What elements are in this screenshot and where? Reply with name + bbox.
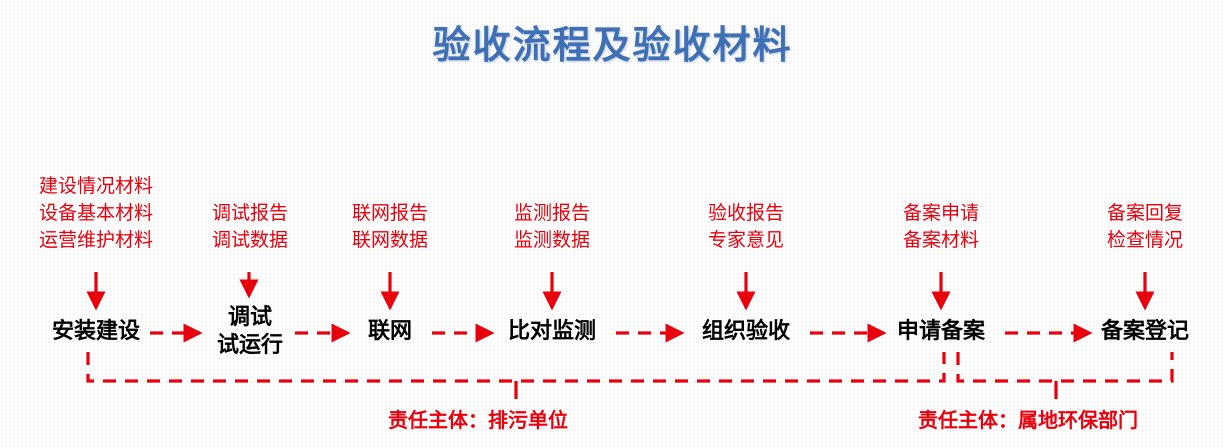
materials-group-6: 备案回复 检查情况: [1085, 200, 1205, 254]
materials-group-5: 备案申请 备案材料: [881, 200, 1001, 254]
material-text: 运营维护材料: [16, 227, 176, 254]
responsibility-right-label: 责任主体：属地环保部门: [918, 404, 1138, 433]
material-text: 验收报告: [686, 200, 806, 227]
flow-diagram: 建设情况材料 设备基本材料 运营维护材料 调试报告 调试数据 联网报告 联网数据…: [0, 0, 1225, 448]
material-text: 备案回复: [1085, 200, 1205, 227]
material-text: 联网报告: [330, 200, 450, 227]
flow-node-filing-register[interactable]: 备案登记: [1073, 318, 1217, 346]
material-text: 检查情况: [1085, 227, 1205, 254]
materials-group-1: 调试报告 调试数据: [190, 200, 310, 254]
material-text: 监测报告: [492, 200, 612, 227]
material-text: 监测数据: [492, 227, 612, 254]
flow-node-label: 联网: [340, 318, 440, 346]
flow-node-network[interactable]: 联网: [340, 318, 440, 346]
materials-group-2: 联网报告 联网数据: [330, 200, 450, 254]
flow-node-label: 备案登记: [1073, 318, 1217, 346]
material-text: 建设情况材料: [16, 173, 176, 200]
flow-node-debug[interactable]: 调试 试运行: [192, 304, 308, 360]
flow-node-acceptance[interactable]: 组织验收: [674, 318, 818, 346]
material-text: 设备基本材料: [16, 200, 176, 227]
material-text: 备案申请: [881, 200, 1001, 227]
flow-node-label: 申请备案: [869, 318, 1013, 346]
materials-group-4: 验收报告 专家意见: [686, 200, 806, 254]
flow-node-label: 组织验收: [674, 318, 818, 346]
flow-node-label: 调试: [192, 304, 308, 332]
flow-node-filing-apply[interactable]: 申请备案: [869, 318, 1013, 346]
flow-node-label: 安装建设: [22, 318, 170, 346]
responsibility-left-label: 责任主体：排污单位: [388, 404, 568, 433]
bracket-right: [958, 352, 1172, 381]
materials-group-0: 建设情况材料 设备基本材料 运营维护材料: [16, 173, 176, 254]
material-text: 调试报告: [190, 200, 310, 227]
flow-node-label: 试运行: [192, 332, 308, 360]
material-text: 专家意见: [686, 227, 806, 254]
flow-node-install[interactable]: 安装建设: [22, 318, 170, 346]
material-text: 调试数据: [190, 227, 310, 254]
material-text: 备案材料: [881, 227, 1001, 254]
flow-arrows-layer: [0, 0, 1225, 448]
material-text: 联网数据: [330, 227, 450, 254]
flow-node-comparison[interactable]: 比对监测: [480, 318, 624, 346]
materials-group-3: 监测报告 监测数据: [492, 200, 612, 254]
flow-node-label: 比对监测: [480, 318, 624, 346]
